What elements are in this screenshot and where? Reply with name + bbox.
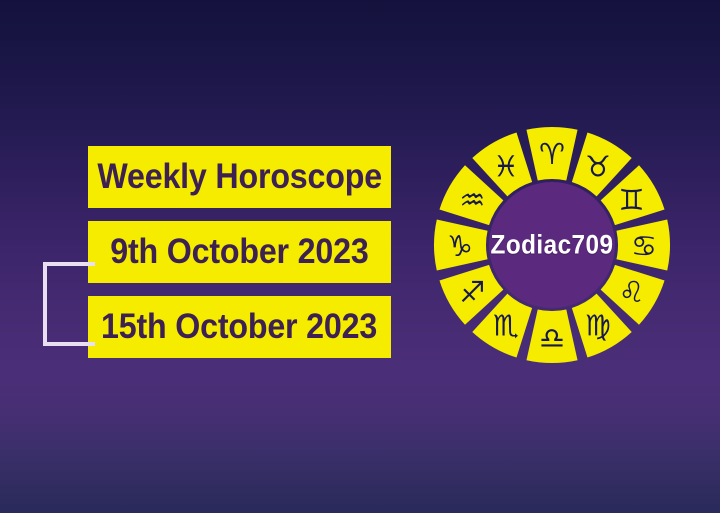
zodiac-symbol-leo-icon: ♌ bbox=[619, 275, 645, 309]
zodiac-symbol-virgo-icon: ♍ bbox=[585, 309, 611, 343]
zodiac-symbol-taurus-icon: ♉ bbox=[585, 149, 611, 183]
start-date-text: 9th October 2023 bbox=[110, 232, 368, 272]
title-bar: Weekly Horoscope bbox=[88, 146, 391, 208]
horoscope-banner-image: Weekly Horoscope 9th October 2023 15th O… bbox=[0, 0, 720, 513]
zodiac-symbol-capricorn-icon: ♑ bbox=[447, 229, 473, 263]
label-stack: Weekly Horoscope 9th October 2023 15th O… bbox=[88, 146, 391, 358]
zodiac-symbol-libra-icon: ♎ bbox=[539, 321, 565, 355]
zodiac-hub bbox=[489, 182, 615, 308]
end-date-text: 15th October 2023 bbox=[101, 307, 377, 347]
zodiac-symbol-cancer-icon: ♋ bbox=[631, 229, 657, 263]
end-date-bar: 15th October 2023 bbox=[88, 296, 391, 358]
zodiac-wheel-graphic: ♈♉♊♋♌♍♎♏♐♑♒♓ bbox=[432, 125, 672, 365]
date-range-bracket bbox=[43, 262, 95, 346]
start-date-bar: 9th October 2023 bbox=[88, 221, 391, 283]
title-text: Weekly Horoscope bbox=[97, 157, 382, 197]
zodiac-symbol-aquarius-icon: ♒ bbox=[459, 183, 485, 217]
zodiac-symbol-sagittarius-icon: ♐ bbox=[459, 275, 485, 309]
zodiac-symbol-scorpio-icon: ♏ bbox=[493, 309, 519, 343]
zodiac-symbol-aries-icon: ♈ bbox=[539, 137, 565, 171]
zodiac-wheel: ♈♉♊♋♌♍♎♏♐♑♒♓ Zodiac709 bbox=[432, 125, 672, 365]
zodiac-symbol-gemini-icon: ♊ bbox=[619, 183, 645, 217]
zodiac-symbol-pisces-icon: ♓ bbox=[493, 149, 519, 183]
